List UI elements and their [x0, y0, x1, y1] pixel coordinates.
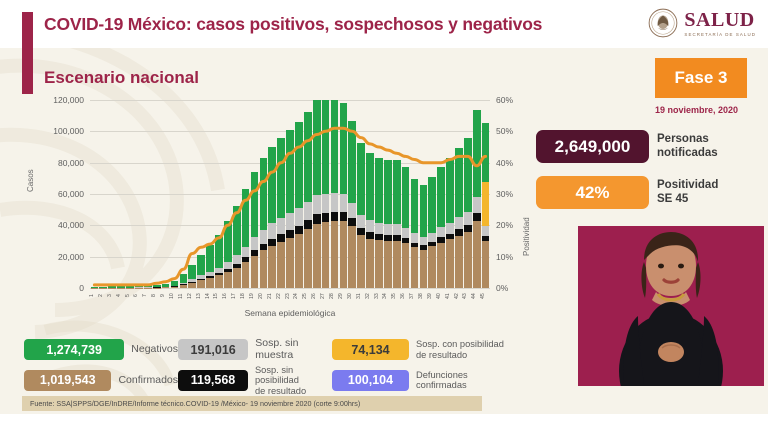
y-axis-title: Casos	[26, 169, 35, 192]
bar-segment	[251, 237, 259, 250]
y2-tick-label: 30%	[496, 189, 513, 199]
bar-column	[232, 100, 241, 288]
bar-segment	[286, 130, 294, 213]
bar-segment	[188, 283, 196, 288]
bar-column	[277, 100, 286, 288]
bar-segment	[268, 223, 276, 238]
bottom-white-strip	[0, 414, 768, 427]
slide-root: COVID-19 México: casos positivos, sospec…	[0, 0, 768, 427]
fecha-label: 19 noviembre, 2020	[655, 105, 738, 115]
bar-segment	[473, 197, 481, 212]
bar-segment	[224, 272, 232, 288]
bar-segment	[304, 220, 312, 229]
legend-label: Confirmados	[118, 375, 178, 387]
bar-segment	[313, 195, 321, 214]
bar-segment	[348, 203, 356, 219]
legend-item: 74,134Sosp. con posibilidadde resultado	[332, 339, 532, 360]
fase-badge: Fase 3	[655, 58, 747, 98]
x-axis-ticks: 1234567891011121314151617181920212223242…	[90, 290, 490, 302]
y-tick-label: 60,000	[58, 189, 84, 199]
legend-label: Sosp. sin posibilidadde resultado	[255, 365, 332, 396]
bar-segment	[437, 167, 445, 227]
bar-segment	[411, 247, 419, 288]
section-title: Escenario nacional	[44, 68, 199, 88]
bar-segment	[340, 194, 348, 212]
bar-segment	[473, 213, 481, 221]
bar-column	[437, 100, 446, 288]
bar-column	[117, 100, 126, 288]
bar-segment	[473, 110, 481, 198]
bar-segment	[348, 121, 356, 203]
bar-segment	[188, 265, 196, 279]
bar-segment	[375, 158, 383, 223]
bar-segment	[322, 194, 330, 213]
stat-label-positividad: PositividadSE 45	[657, 179, 718, 205]
interpreter-figure	[578, 226, 764, 386]
legend-row: 1,019,543Confirmados119,568Sosp. sin pos…	[24, 365, 534, 396]
bar-column	[366, 100, 375, 288]
bar-segment	[197, 280, 205, 288]
bar-segment	[331, 212, 339, 221]
bar-segment	[322, 100, 330, 194]
page-title: COVID-19 México: casos positivos, sospec…	[44, 14, 542, 35]
bar-segment	[366, 153, 374, 220]
bar-segment	[268, 239, 276, 246]
bar-segment	[260, 250, 268, 288]
legend-value-chip: 1,019,543	[24, 370, 111, 391]
x-axis-title: Semana epidemiológica	[90, 308, 490, 318]
bar-segment	[242, 247, 250, 258]
y-tick-label: 40,000	[58, 220, 84, 230]
bar-segment	[446, 158, 454, 223]
bar-segment	[206, 245, 214, 272]
bar-segment	[313, 224, 321, 288]
bar-segment	[340, 212, 348, 221]
bar-column	[250, 100, 259, 288]
bar-column	[134, 100, 143, 288]
bar-segment	[162, 287, 170, 288]
bar-segment	[331, 193, 339, 212]
bar-column	[472, 100, 481, 288]
bar-segment	[482, 123, 490, 183]
bar-column	[152, 100, 161, 288]
bar-segment	[260, 230, 268, 244]
bar-segment	[206, 278, 214, 288]
bar-segment	[322, 213, 330, 222]
bar-segment	[268, 147, 276, 224]
bar-segment	[464, 225, 472, 232]
bar-column	[446, 100, 455, 288]
bar-segment	[295, 226, 303, 234]
y-tick-label: 0	[79, 283, 84, 293]
bar-column	[206, 100, 215, 288]
title-accent-bar	[22, 12, 33, 68]
legend-stats: 1,274,739Negativos191,016Sosp. sin muest…	[24, 338, 534, 400]
bar-segment	[464, 212, 472, 225]
bar-column	[392, 100, 401, 288]
bar-column	[294, 100, 303, 288]
legend-label: Negativos	[131, 344, 178, 356]
bar-segment	[402, 243, 410, 288]
bar-column	[428, 100, 437, 288]
bar-segment	[242, 262, 250, 288]
bar-segment	[277, 138, 285, 218]
bar-column	[330, 100, 339, 288]
bar-column	[197, 100, 206, 288]
bar-segment	[428, 233, 436, 242]
bar-segment	[224, 221, 232, 262]
bar-segment	[233, 255, 241, 264]
stat-value-personas: 2,649,000	[536, 130, 649, 163]
bar-segment	[464, 232, 472, 288]
bar-segment	[393, 160, 401, 224]
bar-segment	[251, 172, 259, 238]
bar-segment	[233, 206, 241, 255]
legend-item: 1,274,739Negativos	[24, 339, 178, 360]
bar-segment	[242, 189, 250, 247]
bar-segment	[268, 246, 276, 288]
bar-column	[410, 100, 419, 288]
legend-label: Sosp. con posibilidadde resultado	[416, 339, 504, 359]
bar-segment	[366, 220, 374, 232]
bar-segment	[277, 218, 285, 234]
bar-column	[170, 100, 179, 288]
bar-segment	[464, 138, 472, 212]
bar-column	[481, 100, 490, 288]
y2-tick-label: 0%	[496, 283, 508, 293]
bar-segment	[420, 250, 428, 288]
bar-segment	[295, 234, 303, 288]
stat-personas-notificadas: 2,649,000 Personasnotificadas	[536, 130, 718, 163]
bar-segment	[357, 143, 365, 215]
bar-column	[303, 100, 312, 288]
bar-segment	[295, 122, 303, 208]
bar-column	[241, 100, 250, 288]
stat-positividad: 42% PositividadSE 45	[536, 176, 718, 209]
bar-segment	[420, 237, 428, 246]
bar-segment	[384, 241, 392, 288]
bar-column	[108, 100, 117, 288]
bar-segment	[224, 262, 232, 269]
bar-segment	[233, 268, 241, 288]
y2-tick-label: 60%	[496, 95, 513, 105]
bar-column	[455, 100, 464, 288]
bar-segment	[375, 240, 383, 288]
bar-segment	[482, 226, 490, 236]
bar-column	[401, 100, 410, 288]
chart-bars	[90, 100, 490, 288]
bar-segment	[171, 287, 179, 288]
bar-segment	[384, 160, 392, 224]
bar-segment	[313, 214, 321, 223]
bar-column	[321, 100, 330, 288]
bar-segment	[384, 224, 392, 235]
bar-segment	[286, 230, 294, 238]
bar-segment	[197, 255, 205, 275]
bar-segment	[357, 215, 365, 228]
bar-segment	[437, 227, 445, 237]
legend-item: 100,104Defuncionesconfirmadas	[332, 370, 532, 391]
bar-segment	[357, 235, 365, 288]
legend-row: 1,274,739Negativos191,016Sosp. sin muest…	[24, 338, 534, 361]
bar-segment	[340, 103, 348, 194]
stat-value-positividad: 42%	[536, 176, 649, 209]
bar-segment	[482, 182, 490, 226]
legend-label: Sosp. sin muestra	[255, 338, 332, 361]
x-tick-label: 45	[481, 290, 490, 302]
bar-segment	[260, 158, 268, 230]
bar-column	[143, 100, 152, 288]
bar-segment	[295, 208, 303, 226]
bar-column	[463, 100, 472, 288]
legend-value-chip: 1,274,739	[24, 339, 124, 360]
legend-item: 1,019,543Confirmados	[24, 370, 178, 391]
y-tick-label: 80,000	[58, 158, 84, 168]
y2-tick-label: 10%	[496, 252, 513, 262]
stat-label-personas: Personasnotificadas	[657, 133, 718, 159]
salud-logo: SALUD SECRETARÍA DE SALUD	[648, 8, 756, 38]
bar-segment	[215, 275, 223, 288]
bar-segment	[420, 185, 428, 237]
bar-segment	[304, 112, 312, 202]
bar-segment	[322, 222, 330, 288]
bar-segment	[411, 233, 419, 242]
bar-column	[286, 100, 295, 288]
bar-segment	[455, 217, 463, 229]
bar-segment	[304, 202, 312, 220]
bar-segment	[455, 236, 463, 288]
bar-segment	[286, 238, 294, 288]
bar-segment	[180, 274, 188, 283]
chart-container: Casos Positividad 020,00040,00060,00080,…	[28, 96, 528, 326]
legend-label: Defuncionesconfirmadas	[416, 370, 468, 390]
bar-segment	[375, 223, 383, 235]
sign-language-video-panel[interactable]	[578, 226, 764, 386]
bar-segment	[215, 235, 223, 268]
y-tick-label: 120,000	[53, 95, 84, 105]
y2-tick-label: 20%	[496, 220, 513, 230]
bar-column	[188, 100, 197, 288]
bar-segment	[446, 239, 454, 288]
bar-column	[126, 100, 135, 288]
bar-segment	[277, 234, 285, 241]
bar-segment	[393, 224, 401, 235]
bar-segment	[340, 221, 348, 288]
bar-column	[339, 100, 348, 288]
bar-segment	[348, 226, 356, 288]
legend-item: 191,016Sosp. sin muestra	[178, 338, 332, 361]
bar-column	[179, 100, 188, 288]
bar-segment	[313, 100, 321, 195]
bar-column	[348, 100, 357, 288]
bar-segment	[455, 148, 463, 218]
bar-segment	[348, 218, 356, 226]
bar-segment	[251, 256, 259, 288]
legend-value-chip: 119,568	[178, 370, 248, 391]
bar-column	[214, 100, 223, 288]
bar-segment	[357, 228, 365, 235]
bar-segment	[393, 241, 401, 288]
bar-segment	[446, 223, 454, 234]
bar-segment	[473, 221, 481, 288]
bar-column	[312, 100, 321, 288]
bar-column	[223, 100, 232, 288]
bar-segment	[428, 246, 436, 288]
bar-column	[419, 100, 428, 288]
bar-column	[161, 100, 170, 288]
bar-segment	[277, 242, 285, 288]
bar-column	[375, 100, 384, 288]
bar-segment	[180, 285, 188, 288]
salud-subtitle: SECRETARÍA DE SALUD	[684, 32, 756, 37]
salud-wordmark: SALUD	[684, 10, 756, 30]
y2-tick-label: 50%	[496, 126, 513, 136]
bar-segment	[304, 229, 312, 288]
source-footer: Fuente: SSA|SPPS/DGE/InDRE/Informe técni…	[22, 396, 482, 411]
bar-segment	[402, 167, 410, 227]
mexican-eagle-seal-icon	[648, 8, 678, 38]
y-tick-label: 100,000	[53, 126, 84, 136]
bar-column	[259, 100, 268, 288]
bar-segment	[366, 239, 374, 288]
bar-segment	[286, 213, 294, 230]
y-tick-label: 20,000	[58, 252, 84, 262]
section-accent-bar	[22, 62, 33, 94]
y2-tick-label: 40%	[496, 158, 513, 168]
y2-axis-title: Positividad	[522, 217, 531, 256]
bar-segment	[428, 177, 436, 233]
legend-value-chip: 74,134	[332, 339, 409, 360]
bar-segment	[331, 221, 339, 288]
bar-segment	[437, 243, 445, 288]
bar-segment	[402, 228, 410, 238]
bar-segment	[411, 179, 419, 234]
legend-value-chip: 100,104	[332, 370, 409, 391]
bar-column	[90, 100, 99, 288]
bar-column	[268, 100, 277, 288]
bar-segment	[482, 241, 490, 288]
legend-item: 119,568Sosp. sin posibilidadde resultado	[178, 365, 332, 396]
bar-segment	[331, 100, 339, 193]
bar-column	[357, 100, 366, 288]
bar-column	[99, 100, 108, 288]
bar-column	[383, 100, 392, 288]
legend-value-chip: 191,016	[178, 339, 248, 360]
gridline	[90, 288, 490, 289]
